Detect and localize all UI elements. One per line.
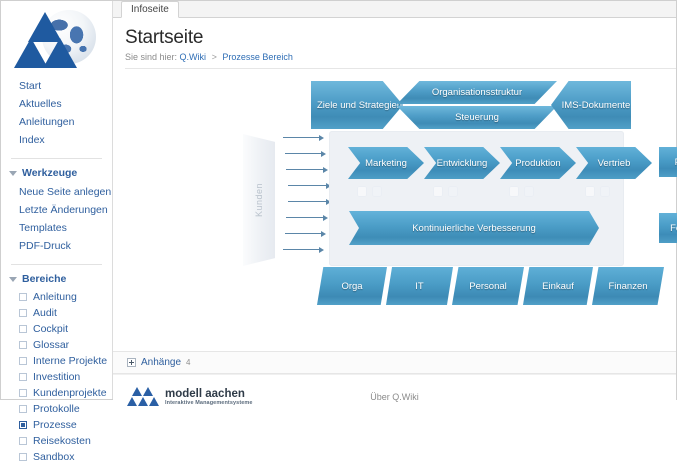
sidebar-item-neue-seite-anlegen[interactable]: Neue Seite anlegen xyxy=(1,183,112,201)
continuous-improvement-band[interactable]: Kontinuierliche Verbesserung xyxy=(349,211,599,245)
support-process-einkauf-label: Einkauf xyxy=(542,281,574,292)
sidebar-item-protokolle[interactable]: Protokolle xyxy=(1,401,112,417)
page-content: Startseite Sie sind hier: Q.Wiki > Proze… xyxy=(113,18,676,418)
support-process-finanzen[interactable]: Finanzen xyxy=(592,267,664,305)
support-process-personal[interactable]: Personal xyxy=(452,267,524,305)
sidebar-item-index[interactable]: Index xyxy=(1,131,112,149)
management-ziele-strategien-label: Ziele und Strategien xyxy=(311,100,403,111)
breadcrumb-link-qwiki[interactable]: Q.Wiki xyxy=(180,52,207,62)
sidebar-item-label: Glossar xyxy=(33,339,69,352)
sidebar-section-label: Werkzeuge xyxy=(22,167,77,179)
sidebar-item-label: Kundenprojekte xyxy=(33,387,107,400)
continuous-improvement-label: Kontinuierliche Verbesserung xyxy=(412,223,536,234)
checkbox-icon[interactable] xyxy=(19,405,27,413)
document-icon xyxy=(586,187,594,196)
attachments-toggle[interactable]: Anhänge 4 xyxy=(113,351,676,374)
application-window: Start Aktuelles Anleitungen Index Werkze… xyxy=(0,0,677,400)
page-title: Startseite xyxy=(125,27,676,49)
sidebar-item-label: Investition xyxy=(33,371,80,384)
breadcrumb: Sie sind hier: Q.Wiki > Prozesse Bereich xyxy=(125,52,676,62)
document-icon xyxy=(358,187,366,196)
support-process-it[interactable]: IT xyxy=(386,267,453,305)
about-link[interactable]: Über Q.Wiki xyxy=(113,392,676,402)
output-feedback-label: Feedback xyxy=(670,223,677,234)
sidebar-item-kundenprojekte[interactable]: Kundenprojekte xyxy=(1,385,112,401)
management-ziele-strategien[interactable]: Ziele und Strategien xyxy=(311,81,403,129)
sidebar-item-label: Audit xyxy=(33,307,57,320)
sidebar-item-label: Cockpit xyxy=(33,323,68,336)
sidebar-divider xyxy=(11,264,102,265)
document-icon-group xyxy=(586,187,609,196)
support-process-it-label: IT xyxy=(415,281,423,292)
document-icon xyxy=(525,187,533,196)
sidebar-item-label: Protokolle xyxy=(33,403,80,416)
sidebar: Start Aktuelles Anleitungen Index Werkze… xyxy=(1,1,113,399)
sidebar-item-pdf-druck[interactable]: PDF-Druck xyxy=(1,237,112,255)
support-process-orga[interactable]: Orga xyxy=(317,267,387,305)
core-process-marketing-label: Marketing xyxy=(365,158,407,169)
chevron-down-icon xyxy=(9,171,17,176)
checkbox-icon[interactable] xyxy=(19,309,27,317)
sidebar-section-label: Bereiche xyxy=(22,273,66,285)
support-process-personal-label: Personal xyxy=(469,281,507,292)
breadcrumb-link-current[interactable]: Prozesse Bereich xyxy=(222,52,293,62)
sidebar-item-anleitungen[interactable]: Anleitungen xyxy=(1,113,112,131)
breadcrumb-separator: > xyxy=(212,52,217,62)
sidebar-item-start[interactable]: Start xyxy=(1,77,112,95)
sidebar-item-label: Anleitung xyxy=(33,291,77,304)
sidebar-item-prozesse[interactable]: Prozesse xyxy=(1,417,112,433)
checkbox-icon-checked[interactable] xyxy=(19,421,27,429)
output-feedback[interactable]: Feedback xyxy=(659,213,677,243)
attachments-count: 4 xyxy=(186,358,190,367)
document-icon xyxy=(434,187,442,196)
sidebar-item-label: Reisekosten xyxy=(33,435,91,448)
sidebar-item-reisekosten[interactable]: Reisekosten xyxy=(1,433,112,449)
core-process-vertrieb-label: Vertrieb xyxy=(598,158,631,169)
sidebar-section-bereiche[interactable]: Bereiche xyxy=(1,272,112,289)
checkbox-icon[interactable] xyxy=(19,293,27,301)
document-icon-group xyxy=(510,187,533,196)
sidebar-item-label: Interne Projekte xyxy=(33,355,107,368)
main-area: Infoseite Startseite Sie sind hier: Q.Wi… xyxy=(113,1,676,399)
management-steuerung[interactable]: Steuerung xyxy=(397,106,557,129)
core-process-produktion-label: Produktion xyxy=(515,158,560,169)
sidebar-item-interne-projekte[interactable]: Interne Projekte xyxy=(1,353,112,369)
sidebar-divider xyxy=(11,158,102,159)
sidebar-section-werkzeuge[interactable]: Werkzeuge xyxy=(1,166,112,183)
document-icon xyxy=(373,187,381,196)
sidebar-item-sandbox[interactable]: Sandbox xyxy=(1,449,112,465)
attachments-label: Anhänge xyxy=(141,357,181,368)
sidebar-item-templates[interactable]: Templates xyxy=(1,219,112,237)
checkbox-icon[interactable] xyxy=(19,325,27,333)
management-ims-dokumente[interactable]: IMS-Dokumente xyxy=(551,81,631,129)
document-icon-group xyxy=(358,187,381,196)
document-icon xyxy=(510,187,518,196)
process-landscape-diagram: Ziele und Strategien Organisationsstrukt… xyxy=(113,69,676,351)
sidebar-item-glossar[interactable]: Glossar xyxy=(1,337,112,353)
customer-input-label: Kunden xyxy=(254,183,264,217)
sidebar-item-cockpit[interactable]: Cockpit xyxy=(1,321,112,337)
sidebar-item-letzte-aenderungen[interactable]: Letzte Änderungen xyxy=(1,201,112,219)
customer-input-band: Kunden xyxy=(243,134,275,266)
management-steuerung-label: Steuerung xyxy=(455,112,499,123)
support-process-orga-label: Orga xyxy=(341,281,362,292)
support-process-finanzen-label: Finanzen xyxy=(608,281,647,292)
app-logo[interactable] xyxy=(1,1,112,73)
expand-icon[interactable] xyxy=(127,358,136,367)
checkbox-icon[interactable] xyxy=(19,373,27,381)
document-icon xyxy=(601,187,609,196)
output-produkt[interactable]: Produkt xyxy=(659,147,677,177)
checkbox-icon[interactable] xyxy=(19,453,27,461)
sidebar-nav: Start Aktuelles Anleitungen Index Werkze… xyxy=(1,73,112,465)
management-band: Ziele und Strategien Organisationsstrukt… xyxy=(311,81,631,129)
management-organisationsstruktur-label: Organisationsstruktur xyxy=(432,87,522,98)
management-ims-dokumente-label: IMS-Dokumente xyxy=(552,100,631,111)
page-footer: modell aachen Interaktive Managementsyst… xyxy=(113,374,676,418)
checkbox-icon[interactable] xyxy=(19,357,27,365)
page-header: Startseite Sie sind hier: Q.Wiki > Proze… xyxy=(113,18,676,69)
checkbox-icon[interactable] xyxy=(19,437,27,445)
sidebar-item-anleitung[interactable]: Anleitung xyxy=(1,289,112,305)
breadcrumb-label: Sie sind hier: xyxy=(125,52,177,62)
tab-bar: Infoseite xyxy=(113,1,676,18)
chevron-down-icon xyxy=(9,277,17,282)
sidebar-item-label: Prozesse xyxy=(33,419,77,432)
checkbox-icon[interactable] xyxy=(19,389,27,397)
sidebar-item-investition[interactable]: Investition xyxy=(1,369,112,385)
document-icon xyxy=(449,187,457,196)
sidebar-item-label: Sandbox xyxy=(33,451,74,464)
support-process-einkauf[interactable]: Einkauf xyxy=(523,267,593,305)
sidebar-item-audit[interactable]: Audit xyxy=(1,305,112,321)
management-organisationsstruktur[interactable]: Organisationsstruktur xyxy=(397,81,557,104)
document-icon-group xyxy=(434,187,457,196)
tab-infoseite[interactable]: Infoseite xyxy=(121,1,179,18)
checkbox-icon[interactable] xyxy=(19,341,27,349)
core-process-entwicklung-label: Entwicklung xyxy=(437,158,488,169)
triangle-icon xyxy=(43,38,77,68)
sidebar-item-aktuelles[interactable]: Aktuelles xyxy=(1,95,112,113)
